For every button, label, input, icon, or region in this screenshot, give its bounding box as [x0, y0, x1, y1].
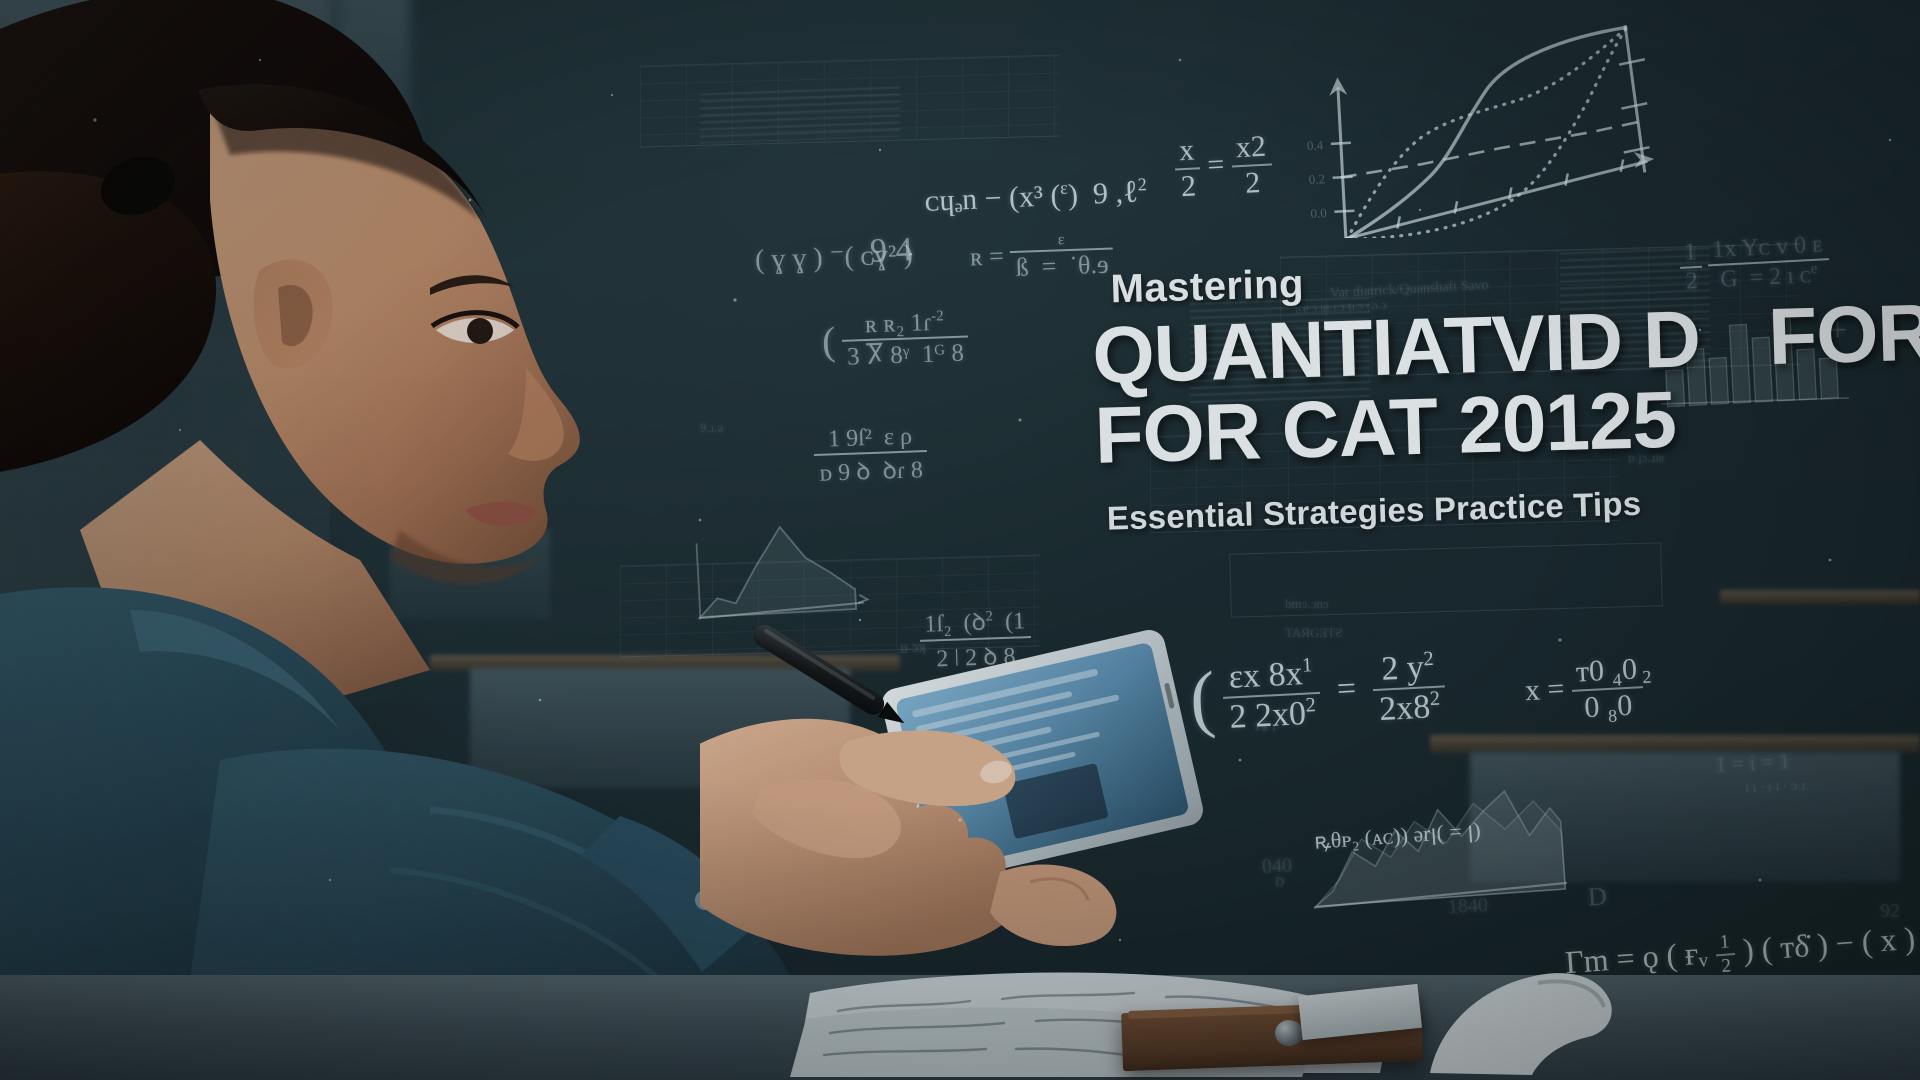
- subtitle-frame: [1229, 542, 1663, 617]
- hands-and-tablet-group: [700, 620, 1260, 960]
- chalk-equation: x = ᴛ0 ₄00 ₈02: [1523, 652, 1653, 729]
- chalk-number: ᴅ: [1275, 870, 1284, 891]
- chalk-letter-d: D: [1587, 882, 1607, 913]
- y-tick-label: 0.0: [1310, 205, 1327, 221]
- chalk-number: 92: [1880, 900, 1900, 923]
- title-headline-line-2: FOR CAT 20125: [1094, 374, 1920, 476]
- rolled-paper: [1420, 955, 1620, 1080]
- series-solid-s-curve: [1337, 27, 1638, 238]
- background-desk: [1720, 590, 1920, 604]
- chalk-equation: x2 = x22: [1173, 130, 1273, 205]
- background-desk: [1430, 735, 1920, 753]
- hair-ponytail: [0, 171, 216, 480]
- eye-iris: [467, 318, 493, 344]
- chalk-note: ʇ ı · ı ʇ · ɔ ɹ: [1745, 778, 1806, 797]
- title-block: Mastering QUANTIATVID D FOR FOR CAT 2012…: [1090, 244, 1920, 537]
- series-dotted-lower: [1337, 27, 1638, 238]
- hero-banner-image: ( ɣ ɣ ) ⁻( ᴄɣ² ) 9 4 ᴄɥₔn − (x³ (ε) 9 ,ℓ…: [0, 0, 1920, 1080]
- y-axis: [1338, 87, 1346, 238]
- growth-curve-svg: 0.4 0.2 0.0: [1300, 8, 1660, 238]
- headline-part-b: FOR: [1767, 287, 1920, 381]
- stylus-highlight: [764, 628, 876, 700]
- series-dotted-upper: [1337, 27, 1638, 238]
- chalk-equation: 1 = i = 1: [1714, 748, 1790, 778]
- notebook-clasp-icon: [1275, 1020, 1303, 1046]
- right-hand-support: [990, 865, 1116, 946]
- y-tick-label: 0.2: [1308, 171, 1325, 187]
- series-dashed-plateau: [1339, 122, 1643, 178]
- chart-mountain-area: ꝶθᴘ₂ (ᴀᴄ)) ǝrꞁ( = ꞁ): [1300, 780, 1570, 910]
- x-axis: [1341, 161, 1651, 238]
- y-tick-label: 0.4: [1307, 137, 1325, 153]
- stylus-pen: [749, 621, 910, 733]
- chart-growth-curve: 0.4 0.2 0.0: [1300, 8, 1660, 238]
- chalk-note: TAЯGƎTƧ: [1285, 625, 1342, 641]
